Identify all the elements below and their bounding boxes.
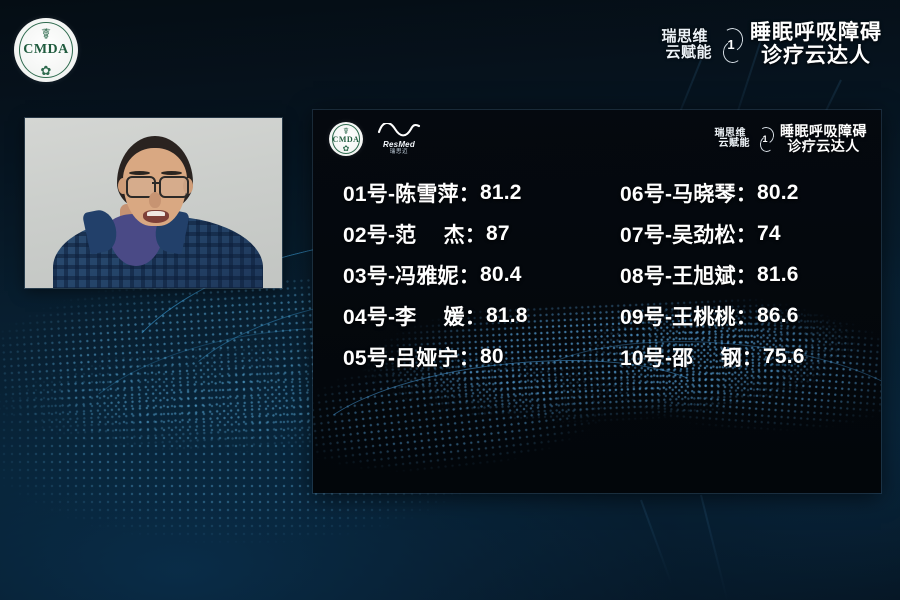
score-row: 06号-马晓琴：80.2 xyxy=(602,172,861,213)
score-row: 04号-李 媛：81.8 xyxy=(343,295,602,336)
program-brand-lockup: 瑞思维 云赋能 1 睡眠呼吸障碍 诊疗云达人 xyxy=(661,22,882,67)
score-colon: ： xyxy=(736,260,757,290)
score-value: 80.4 xyxy=(480,263,522,287)
brand-title-line1: 睡眠呼吸障碍 xyxy=(750,22,882,45)
score-label: 06号-马晓琴 xyxy=(620,178,736,208)
score-colon: ： xyxy=(465,301,486,331)
score-value: 81.2 xyxy=(480,181,522,205)
brand-mark-number: 1 xyxy=(727,37,734,52)
cmda-emblem-icon: ☤ CMDA ✿ xyxy=(14,18,78,82)
score-value: 80.2 xyxy=(757,181,799,205)
shared-screen-panel[interactable]: ☤ CMDA ✿ ResMed 瑞思迈 瑞思维 云赋能 xyxy=(313,110,881,493)
cmda-logo: ☤ CMDA ✿ xyxy=(329,122,363,156)
brand-sponsor-line2: 云赋能 xyxy=(661,45,712,60)
background-streak xyxy=(640,500,673,585)
brand-sponsor-line2: 云赋能 xyxy=(715,139,751,149)
participant-video-tile[interactable] xyxy=(25,118,282,288)
brand-sponsor-text: 瑞思维 云赋能 xyxy=(661,29,712,60)
score-value: 86.6 xyxy=(757,304,799,328)
video-person-brow xyxy=(129,171,150,175)
score-value: 81.8 xyxy=(486,304,528,328)
webinar-screen: ☤ CMDA ✿ 瑞思维 云赋能 1 睡眠呼吸障碍 诊疗云达人 xyxy=(0,0,900,600)
score-row: 07号-吴劲松：74 xyxy=(602,213,861,254)
score-row: 01号-陈雪萍：81.2 xyxy=(343,172,602,213)
cmda-abbr-text: CMDA xyxy=(333,135,360,144)
panel-header: ☤ CMDA ✿ ResMed 瑞思迈 瑞思维 云赋能 xyxy=(313,110,881,168)
brand-title-line2: 诊疗云达人 xyxy=(787,139,860,154)
laurel-icon: ✿ xyxy=(343,145,350,153)
score-label: 05号-吕娅宁 xyxy=(343,342,459,372)
video-person-glasses xyxy=(159,176,189,198)
score-value: 81.6 xyxy=(757,263,799,287)
score-value: 80 xyxy=(480,345,504,369)
brand-title-line1: 睡眠呼吸障碍 xyxy=(780,124,867,139)
score-column-left: 01号-陈雪萍：81.2 02号-范 杰：87 03号-冯雅妮：80.4 04号… xyxy=(343,172,602,377)
score-column-right: 06号-马晓琴：80.2 07号-吴劲松：74 08号-王旭斌：81.6 09号… xyxy=(602,172,861,377)
score-value: 87 xyxy=(486,222,510,246)
score-label: 03号-冯雅妮 xyxy=(343,260,459,290)
caduceus-icon: ☤ xyxy=(41,27,51,42)
background-streak xyxy=(700,495,729,600)
score-label: 04号-李 媛 xyxy=(343,301,465,331)
score-colon: ： xyxy=(459,260,480,290)
laurel-icon: ✿ xyxy=(41,64,52,77)
score-label: 08号-王旭斌 xyxy=(620,260,736,290)
video-person-nose xyxy=(149,192,161,208)
resmed-chinese-name: 瑞思迈 xyxy=(390,150,408,156)
score-colon: ： xyxy=(742,342,763,372)
score-value: 75.6 xyxy=(763,345,805,369)
cmda-logo: ☤ CMDA ✿ xyxy=(14,18,78,82)
score-row: 09号-王桃桃：86.6 xyxy=(602,295,861,336)
score-row: 02号-范 杰：87 xyxy=(343,213,602,254)
brand-sponsor-text: 瑞思维 云赋能 xyxy=(715,129,751,149)
score-row: 08号-王旭斌：81.6 xyxy=(602,254,861,295)
video-person-glasses-bridge xyxy=(152,182,159,184)
resmed-logo: ResMed 瑞思迈 xyxy=(377,123,421,156)
program-brand-lockup: 瑞思维 云赋能 1 睡眠呼吸障碍 诊疗云达人 xyxy=(715,124,868,154)
score-colon: ： xyxy=(459,342,480,372)
brand-mark-number: 1 xyxy=(762,134,767,144)
panel-logo-group: ☤ CMDA ✿ ResMed 瑞思迈 xyxy=(329,122,421,156)
score-colon: ： xyxy=(736,178,757,208)
score-label: 10号-邵 钢 xyxy=(620,342,742,372)
score-label: 01号-陈雪萍 xyxy=(343,178,459,208)
score-row: 03号-冯雅妮：80.4 xyxy=(343,254,602,295)
video-person-brow xyxy=(161,171,182,175)
score-label: 07号-吴劲松 xyxy=(620,219,736,249)
video-person-teeth xyxy=(147,211,165,216)
brand-title-text: 睡眠呼吸障碍 诊疗云达人 xyxy=(780,124,867,154)
score-colon: ： xyxy=(465,219,486,249)
score-row: 05号-吕娅宁：80 xyxy=(343,336,602,377)
brand-title-line2: 诊疗云达人 xyxy=(761,45,871,68)
score-colon: ： xyxy=(736,219,757,249)
contestant-score-list: 01号-陈雪萍：81.2 02号-范 杰：87 03号-冯雅妮：80.4 04号… xyxy=(313,172,881,377)
resmed-wordmark: ResMed xyxy=(383,141,415,149)
score-colon: ： xyxy=(459,178,480,208)
brand-title-text: 睡眠呼吸障碍 诊疗云达人 xyxy=(750,22,882,67)
score-value: 74 xyxy=(757,222,781,246)
score-label: 02号-范 杰 xyxy=(343,219,465,249)
score-label: 09号-王桃桃 xyxy=(620,301,736,331)
cmda-abbr-text: CMDA xyxy=(23,42,69,58)
score-row: 10号-邵 钢：75.6 xyxy=(602,336,861,377)
brand-hook-icon: 1 xyxy=(756,127,774,151)
resmed-wave-icon xyxy=(377,123,421,140)
brand-sponsor-line1: 瑞思维 xyxy=(661,29,712,44)
cmda-emblem-icon: ☤ CMDA ✿ xyxy=(329,122,363,156)
score-colon: ： xyxy=(736,301,757,331)
brand-hook-icon: 1 xyxy=(718,28,744,62)
